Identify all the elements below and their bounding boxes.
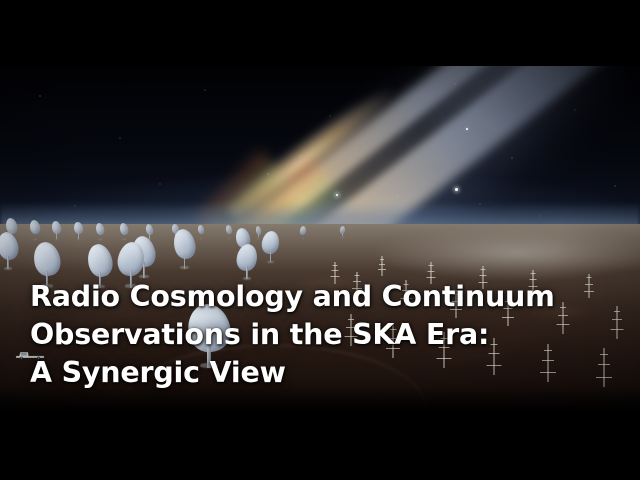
bright-star [336, 194, 338, 196]
ska-mid-dish-antenna [198, 225, 204, 237]
title-line-2: Observations in the SKA Era: [30, 316, 630, 354]
title-line-1: Radio Cosmology and Continuum [30, 278, 630, 316]
bright-star [455, 188, 458, 191]
ska-mid-dish-antenna [96, 223, 104, 238]
bright-star [466, 128, 468, 130]
ska-mid-dish-antenna [256, 226, 261, 237]
ska-mid-dish-antenna [174, 229, 195, 267]
ska-mid-dish-antenna [237, 244, 257, 278]
video-title-card: Radio Cosmology and Continuum Observatio… [0, 0, 640, 480]
ska-mid-dish-antenna [0, 232, 18, 268]
ska-mid-dish-antenna [74, 222, 83, 238]
ska-mid-dish-antenna [340, 226, 345, 236]
ska-mid-dish-antenna [30, 220, 40, 238]
title-line-3: A Synergic View [30, 354, 630, 392]
letterbox-bar-bottom [0, 413, 640, 480]
ska-low-log-periodic-antenna [378, 256, 386, 276]
letterbox-bar-top [0, 0, 640, 66]
ska-mid-dish-antenna [226, 225, 232, 237]
ska-mid-dish-antenna [52, 221, 61, 238]
ska-mid-dish-antenna [300, 226, 306, 237]
ska-mid-dish-antenna [262, 231, 279, 261]
page-title: Radio Cosmology and Continuum Observatio… [30, 278, 630, 392]
ska-mid-dish-antenna [120, 223, 128, 238]
